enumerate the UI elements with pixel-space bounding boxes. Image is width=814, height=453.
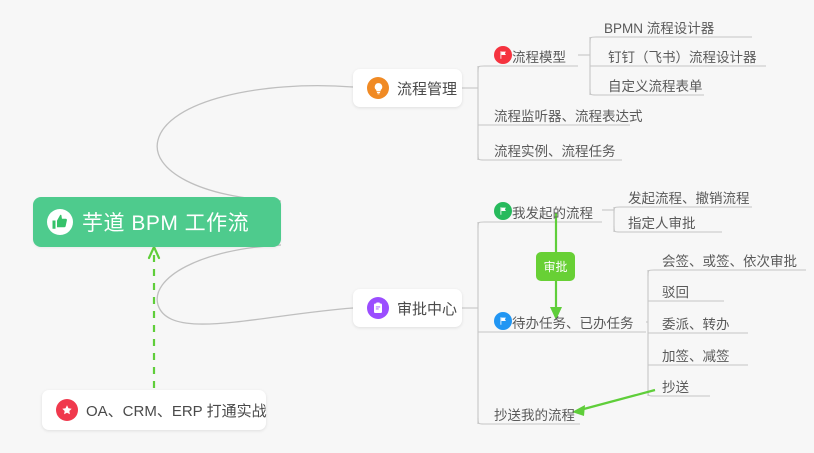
leaf-flow-instance-task[interactable]: 流程实例、流程任务 <box>488 138 622 162</box>
root-node[interactable]: 芋道 BPM 工作流 <box>33 197 281 247</box>
leaf-label-delegate-transfer: 委派、转办 <box>662 318 730 332</box>
leaf-label-reject: 驳回 <box>662 286 689 300</box>
leaf-label-custom-flow-form: 自定义流程表单 <box>608 80 703 94</box>
flag-icon <box>494 312 512 330</box>
leaf-delegate-transfer[interactable]: 委派、转办 <box>656 311 736 335</box>
leaf-my-initiated-flow[interactable]: 我发起的流程 <box>494 200 599 224</box>
branch-node-approval-center[interactable]: 审批中心 <box>353 289 462 327</box>
leaf-start-cancel-flow[interactable]: 发起流程、撤销流程 <box>622 185 756 209</box>
leaf-label-dingtalk-feishu-designer: 钉钉（飞书）流程设计器 <box>608 51 757 65</box>
branch-label-flow-management: 流程管理 <box>397 78 457 99</box>
leaf-bpmn-designer[interactable]: BPMN 流程设计器 <box>598 15 720 39</box>
leaf-assignee-approval[interactable]: 指定人审批 <box>622 210 702 234</box>
leaf-custom-flow-form[interactable]: 自定义流程表单 <box>602 73 709 97</box>
leaf-dingtalk-feishu-designer[interactable]: 钉钉（飞书）流程设计器 <box>602 44 763 68</box>
leaf-label-my-initiated-flow: 我发起的流程 <box>512 207 593 221</box>
leaf-reject[interactable]: 驳回 <box>656 279 695 303</box>
leaf-label-flow-instance-task: 流程实例、流程任务 <box>494 145 616 159</box>
leaf-cc[interactable]: 抄送 <box>656 374 695 398</box>
leaf-label-assignee-approval: 指定人审批 <box>628 217 696 231</box>
note-label-oa-crm-erp: OA、CRM、ERP 打通实战 <box>86 400 267 421</box>
flag-icon <box>494 202 512 220</box>
leaf-label-add-remove-sign: 加签、减签 <box>662 350 730 364</box>
branch-label-approval-center: 审批中心 <box>397 298 457 319</box>
leaf-label-countersign-orsign-sequential: 会签、或签、依次审批 <box>662 255 797 269</box>
dashed-arrow-note-to-root <box>149 247 159 388</box>
clipboard-icon <box>367 297 389 319</box>
note-node-oa-crm-erp[interactable]: OA、CRM、ERP 打通实战 <box>42 390 266 430</box>
root-label: 芋道 BPM 工作流 <box>82 207 249 237</box>
leaf-label-flow-model: 流程模型 <box>512 51 566 65</box>
leaf-label-bpmn-designer: BPMN 流程设计器 <box>604 22 714 36</box>
leaf-label-flow-listener-expression: 流程监听器、流程表达式 <box>494 110 643 124</box>
lightbulb-icon <box>367 77 389 99</box>
leaf-label-cc-to-me-flow: 抄送我的流程 <box>494 409 575 423</box>
approve-tag-label: 审批 <box>543 258 567 275</box>
connector-root-to-flow-management <box>157 86 353 201</box>
leaf-label-todo-done-task: 待办任务、已办任务 <box>512 317 634 331</box>
green-arrow-cc-to-ccflow <box>572 390 655 416</box>
leaf-flow-listener-expression[interactable]: 流程监听器、流程表达式 <box>488 103 649 127</box>
leaf-cc-to-me-flow[interactable]: 抄送我的流程 <box>488 402 581 426</box>
star-icon <box>56 399 78 421</box>
leaf-countersign-orsign-sequential[interactable]: 会签、或签、依次审批 <box>656 248 803 272</box>
flag-icon <box>494 46 512 64</box>
leaf-todo-done-task[interactable]: 待办任务、已办任务 <box>494 310 640 334</box>
approve-tag: 审批 <box>536 252 575 281</box>
leaf-add-remove-sign[interactable]: 加签、减签 <box>656 343 736 367</box>
connector-root-to-approval-center <box>157 245 353 324</box>
leaf-label-start-cancel-flow: 发起流程、撤销流程 <box>628 192 750 206</box>
leaf-flow-model[interactable]: 流程模型 <box>494 44 572 68</box>
mindmap-canvas: 芋道 BPM 工作流 流程管理 流程模型 流程监听器、流程表达式 流程实例、流程… <box>0 0 814 453</box>
leaf-label-cc: 抄送 <box>662 381 689 395</box>
thumbs-up-icon <box>47 209 73 235</box>
branch-node-flow-management[interactable]: 流程管理 <box>353 69 462 107</box>
